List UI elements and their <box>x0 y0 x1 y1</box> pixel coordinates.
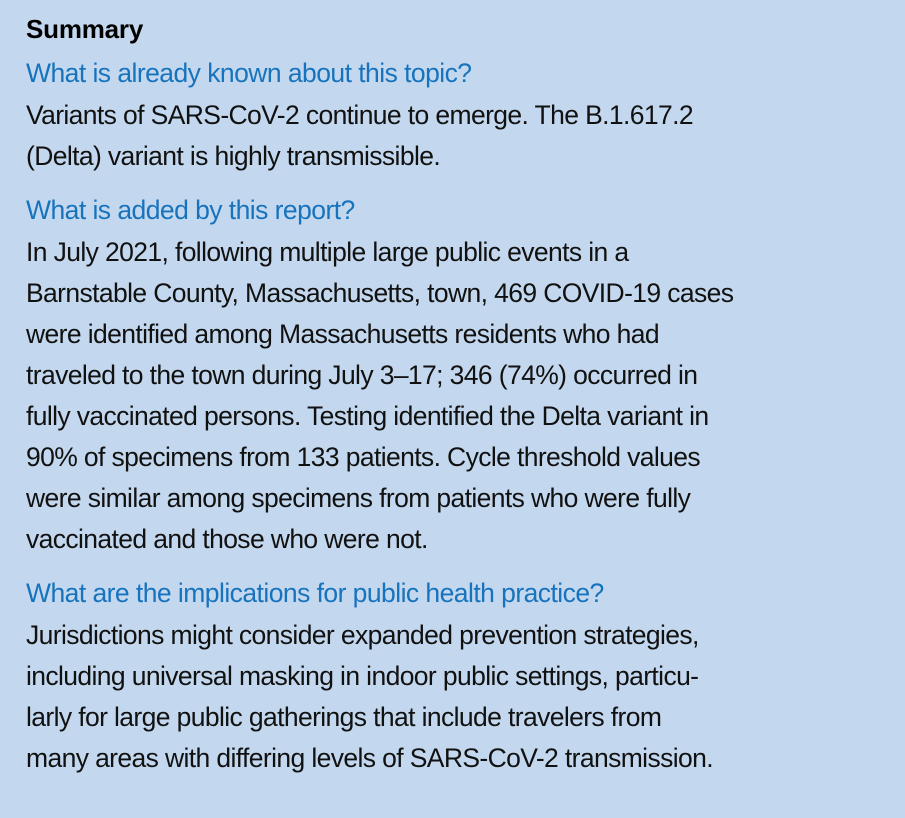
body-line: (Delta) variant is highly transmissible. <box>26 136 881 177</box>
summary-section-implications: What are the implications for public hea… <box>26 574 881 779</box>
body-line: Variants of SARS-CoV-2 continue to emerg… <box>26 95 881 136</box>
body-line: fully vaccinated persons. Testing identi… <box>26 396 881 437</box>
section-heading-known: What is already known about this topic? <box>26 54 881 92</box>
body-line: larly for large public gatherings that i… <box>26 697 881 738</box>
page-title: Summary <box>26 12 881 46</box>
section-body-known: Variants of SARS-CoV-2 continue to emerg… <box>26 95 881 177</box>
section-body-implications: Jurisdictions might consider expanded pr… <box>26 615 881 779</box>
section-heading-added: What is added by this report? <box>26 191 881 229</box>
body-line: vaccinated and those who were not. <box>26 519 881 560</box>
body-line: Barnstable County, Massachusetts, town, … <box>26 273 881 314</box>
body-line: traveled to the town during July 3–17; 3… <box>26 355 881 396</box>
body-line: Jurisdictions might consider expanded pr… <box>26 615 881 656</box>
body-line: were similar among specimens from patien… <box>26 478 881 519</box>
body-line: were identified among Massachusetts resi… <box>26 314 881 355</box>
section-body-added: In July 2021, following multiple large p… <box>26 232 881 560</box>
body-line: including universal masking in indoor pu… <box>26 656 881 697</box>
section-spacer <box>26 177 881 191</box>
body-line: In July 2021, following multiple large p… <box>26 232 881 273</box>
summary-box: Summary What is already known about this… <box>0 0 905 818</box>
summary-section-added: What is added by this report? In July 20… <box>26 191 881 560</box>
section-heading-implications: What are the implications for public hea… <box>26 574 881 612</box>
body-line: many areas with differing levels of SARS… <box>26 738 881 779</box>
section-spacer <box>26 560 881 574</box>
summary-section-known: What is already known about this topic? … <box>26 54 881 177</box>
body-line: 90% of specimens from 133 patients. Cycl… <box>26 437 881 478</box>
